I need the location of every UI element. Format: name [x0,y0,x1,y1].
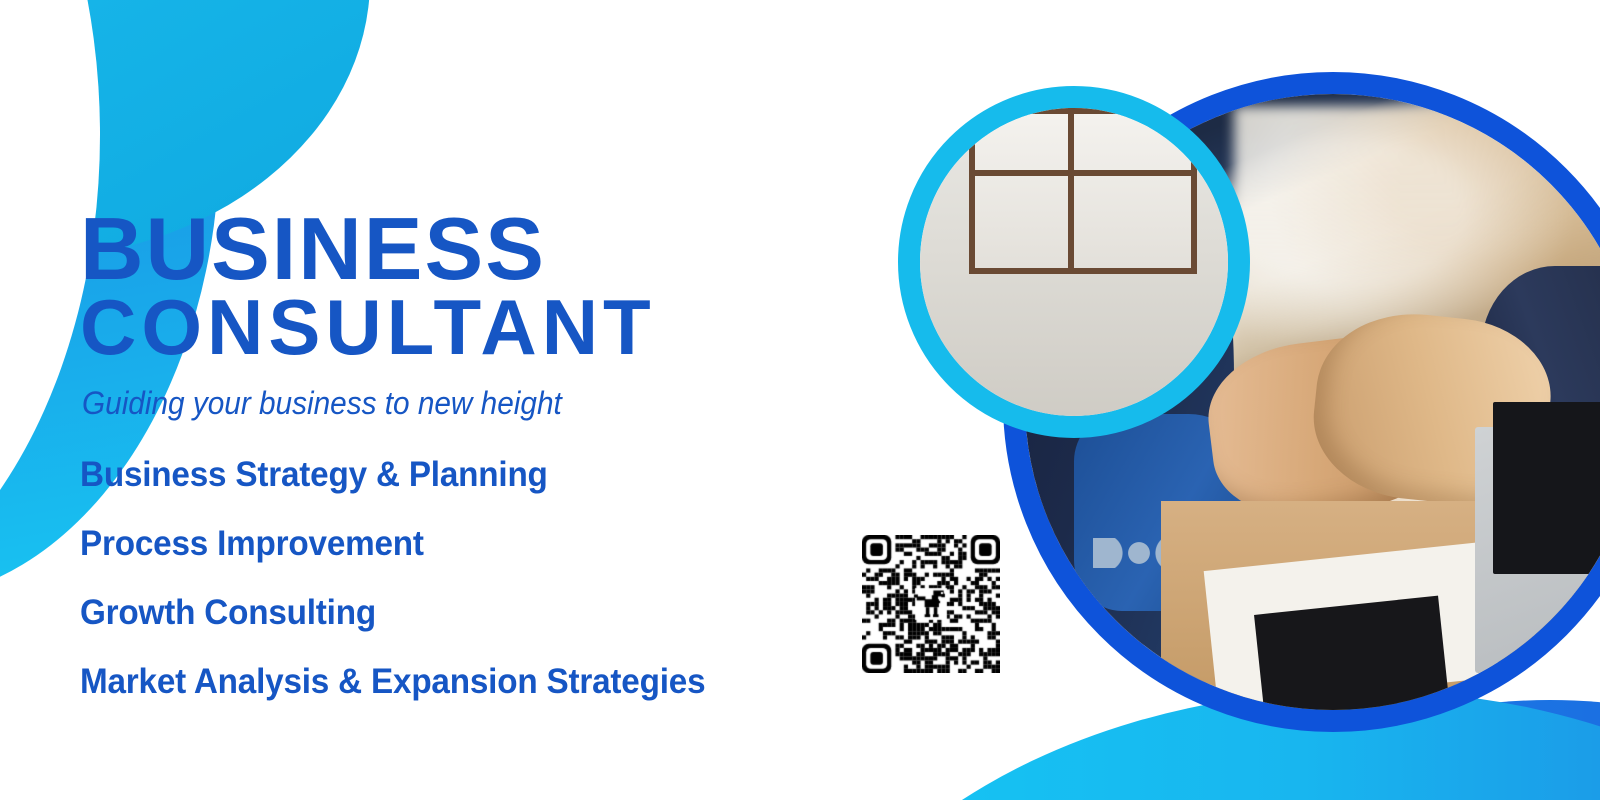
qr-code[interactable] [862,535,1000,673]
tagline: Guiding your business to new height [82,385,562,422]
window-mullion [1068,108,1074,274]
service-item: Business Strategy & Planning [80,455,705,495]
text-content: BUSINESS CONSULTANT Guiding your busines… [80,0,880,800]
service-item: Growth Consulting [80,593,705,633]
services-list: Business Strategy & Planning Process Imp… [80,455,738,731]
team-photo [920,108,1228,416]
window-transom [969,170,1197,176]
office-window [969,108,1197,274]
service-item: Process Improvement [80,524,705,564]
headline-line-1: BUSINESS [80,206,546,292]
service-item: Market Analysis & Expansion Strategies [80,662,705,702]
business-consultant-banner: BUSINESS CONSULTANT Guiding your busines… [0,0,1600,800]
headline-line-2: CONSULTANT [80,288,656,366]
qr-code-canvas[interactable] [862,535,1000,673]
desk-tablet [1254,596,1449,719]
team-photo-circle [898,86,1250,438]
laptop-screen [1493,402,1600,574]
